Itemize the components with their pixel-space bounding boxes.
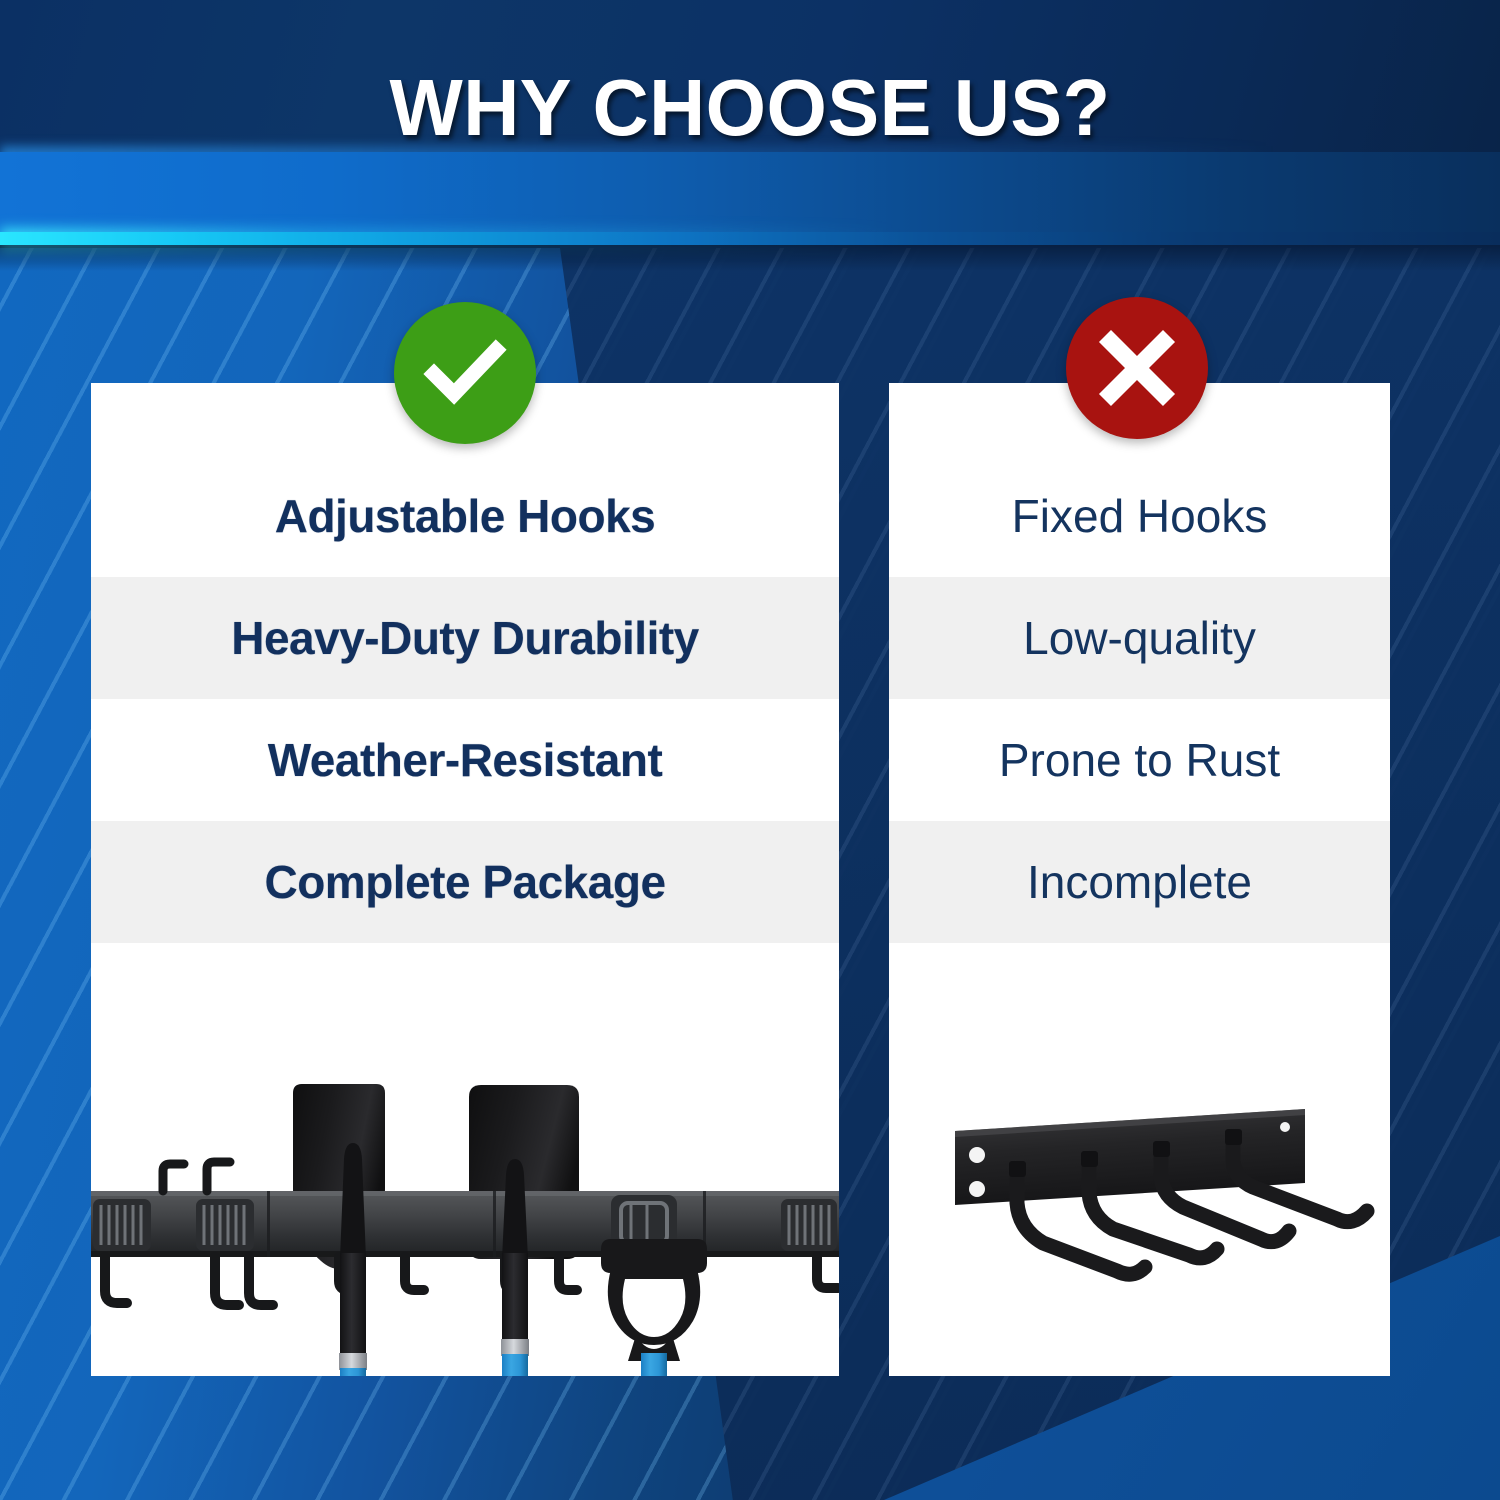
pro-row-4-label: Complete Package (264, 855, 665, 909)
con-row-list: Fixed Hooks Low-quality Prone to Rust In… (889, 455, 1390, 943)
con-row-4: Incomplete (889, 821, 1390, 943)
pro-row-1-label: Adjustable Hooks (275, 489, 656, 543)
con-row-1-label: Fixed Hooks (1012, 489, 1268, 543)
header-drop-shadow (0, 245, 1500, 271)
con-row-3-label: Prone to Rust (999, 733, 1280, 787)
pro-row-2-label: Heavy-Duty Durability (231, 611, 699, 665)
con-product-image (889, 1043, 1390, 1376)
pro-row-2: Heavy-Duty Durability (91, 577, 839, 699)
pro-row-3: Weather-Resistant (91, 699, 839, 821)
rail-clip-4 (781, 1199, 837, 1251)
mounting-hole-1 (969, 1147, 985, 1163)
check-icon (420, 328, 510, 418)
con-row-2-label: Low-quality (1023, 611, 1256, 665)
header-band-blue (0, 152, 1500, 238)
x-icon (1095, 326, 1179, 410)
pro-column-card: Adjustable Hooks Heavy-Duty Durability W… (91, 383, 839, 1376)
infographic-canvas: WHY CHOOSE US? Adjustable Hooks Heavy-Du… (0, 0, 1500, 1500)
con-row-1: Fixed Hooks (889, 455, 1390, 577)
rail-lower-hooks (105, 1257, 838, 1305)
pro-product-image (91, 1083, 839, 1376)
x-badge (1066, 297, 1208, 439)
header-cyan-accent-line (0, 232, 1500, 245)
check-badge (394, 302, 536, 444)
pro-row-4: Complete Package (91, 821, 839, 943)
pro-row-3-label: Weather-Resistant (268, 733, 663, 787)
rail-upper-hooks (163, 1162, 230, 1191)
rail-clip-2 (196, 1199, 254, 1251)
mounting-hole-2 (969, 1181, 985, 1197)
mounting-hole-3 (1280, 1122, 1290, 1132)
page-title: WHY CHOOSE US? (23, 62, 1478, 154)
pro-row-list: Adjustable Hooks Heavy-Duty Durability W… (91, 455, 839, 943)
con-column-card: Fixed Hooks Low-quality Prone to Rust In… (889, 383, 1390, 1376)
d-handle-tool (601, 1239, 707, 1376)
rail-clip-1 (93, 1199, 151, 1251)
con-row-3: Prone to Rust (889, 699, 1390, 821)
con-row-4-label: Incomplete (1027, 855, 1252, 909)
con-row-2: Low-quality (889, 577, 1390, 699)
pro-row-1: Adjustable Hooks (91, 455, 839, 577)
